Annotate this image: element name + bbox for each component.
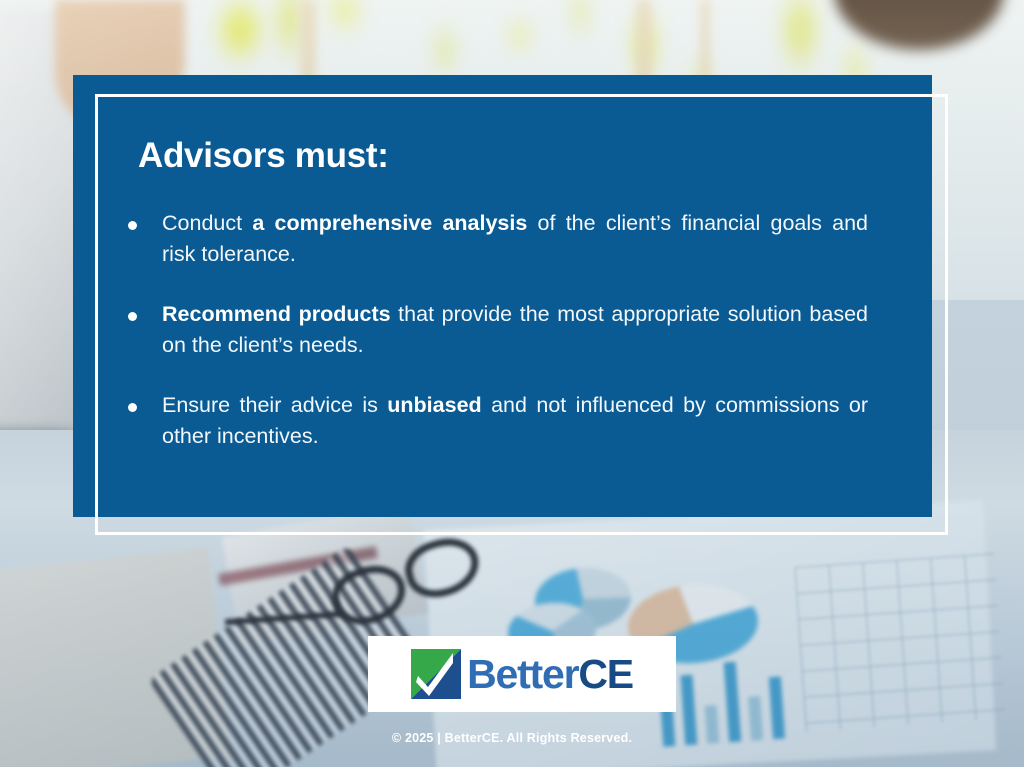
brand-logo[interactable]: BetterCE (368, 636, 676, 712)
bettece-check-logo-icon (411, 649, 461, 699)
list-item-text: Conduct a comprehensive analysis of the … (162, 208, 868, 269)
bullet-dot-icon (128, 403, 137, 412)
brand-wordmark: BetterCE (467, 654, 633, 695)
bullet-dot-icon (128, 221, 137, 230)
brand-word-ce: CE (578, 651, 633, 697)
list-item: Conduct a comprehensive analysis of the … (128, 208, 868, 269)
list-item: Ensure their advice is unbiased and not … (128, 390, 868, 451)
slide-canvas: Advisors must: Conduct a comprehensive a… (0, 0, 1024, 767)
bullet-list: Conduct a comprehensive analysis of the … (128, 208, 868, 481)
copyright-text: © 2025 | BetterCE. All Rights Reserved. (0, 731, 1024, 745)
list-item-text: Recommend products that provide the most… (162, 299, 868, 360)
page-title: Advisors must: (138, 136, 389, 176)
list-item: Recommend products that provide the most… (128, 299, 868, 360)
brand-word-better: Better (467, 651, 578, 697)
bullet-dot-icon (128, 312, 137, 321)
list-item-text: Ensure their advice is unbiased and not … (162, 390, 868, 451)
